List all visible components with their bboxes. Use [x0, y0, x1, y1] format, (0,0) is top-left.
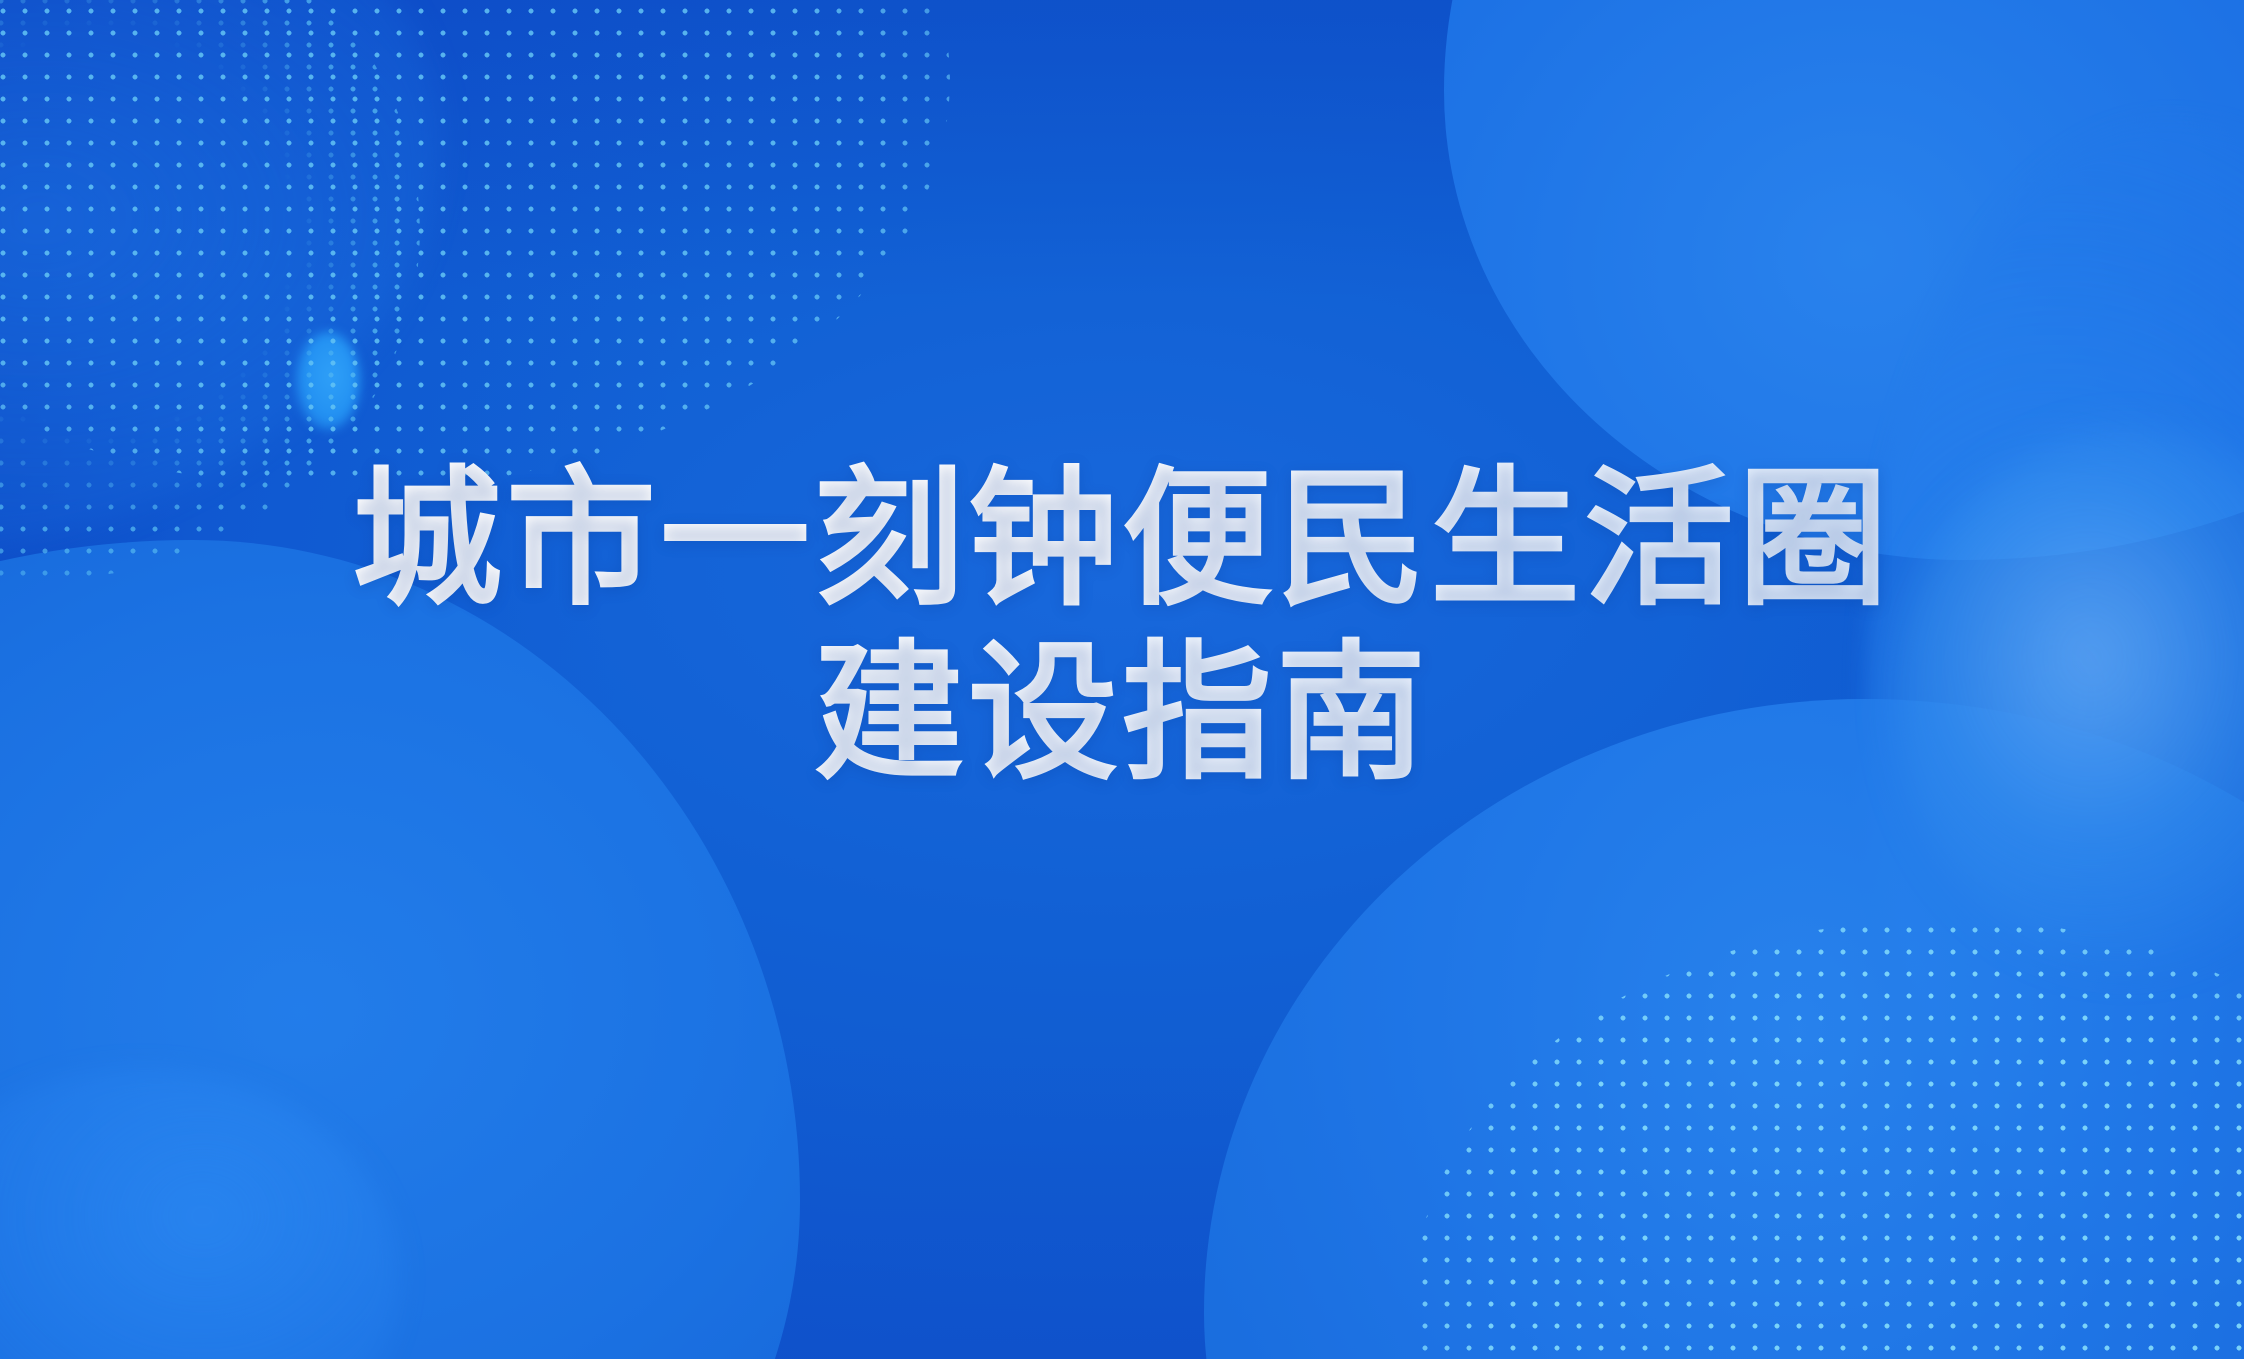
title-line-secondary: 建设指南: [0, 626, 2244, 800]
poster-banner: 城市一刻钟便民生活圈 建设指南: [0, 0, 2244, 1359]
page-title: 城市一刻钟便民生活圈 建设指南: [0, 452, 2244, 800]
title-line-primary: 城市一刻钟便民生活圈: [0, 452, 2244, 626]
